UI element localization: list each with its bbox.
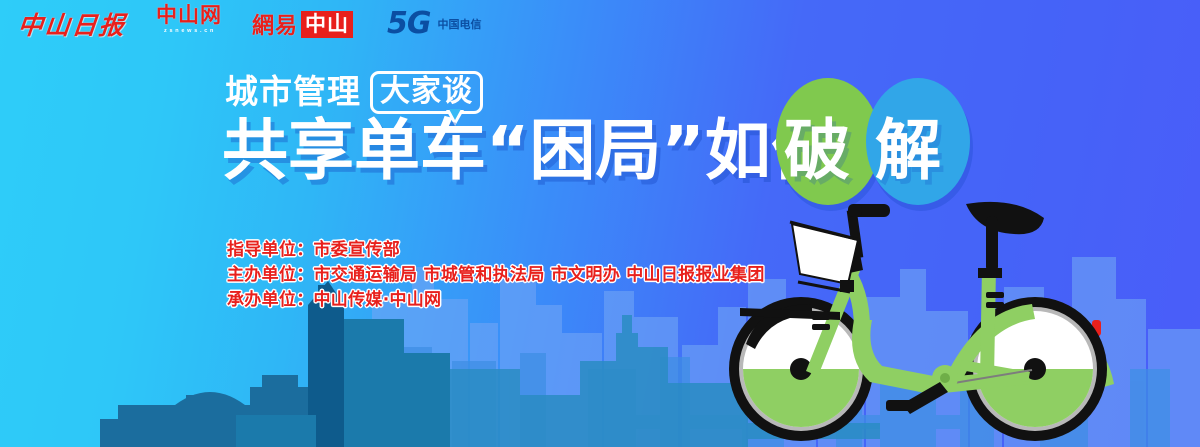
organiser-line-hosts: 主办单位：市交通运输局 市城管和执法局 市文明办 中山日报报业集团 [227,263,765,288]
logo-5g-text: 5G [387,9,431,39]
page-title: 共享单车“困局”如何 [222,112,837,190]
media-logo-bar: 中山日报 中山网 z s n e w s . c n 網易 中山 5G 中国电信 [0,0,1200,48]
logo-zhongshan-net-domain: z s n e w s . c n [164,29,214,35]
logo-netease-zhongshan[interactable]: 網易 中山 [252,5,353,43]
kicker-line: 城市管理 大家谈 [225,72,483,112]
organiser-line-operators: 承办单位：中山传媒·中山网 [227,288,765,313]
shared-bicycle-illustration [700,196,1200,447]
front-wheel [729,297,873,441]
kicker-text: 城市管理 [225,74,361,110]
saddle [966,202,1044,278]
logo-zhongshan-net-text: 中山网 [156,5,222,26]
emphasis-char-po: 破 [784,112,850,190]
organiser-line-guidance: 指导单位：市委宣传部 [227,238,765,263]
organiser-list: 指导单位：市委宣传部 主办单位：市交通运输局 市城管和执法局 市文明办 中山日报… [227,238,765,313]
speech-bubble-text: 大家谈 [380,74,473,109]
emphasis-char-jie: 解 [875,112,941,190]
logo-zhongshan-daily-text: 中山日报 [16,6,128,42]
logo-china-telecom-5g[interactable]: 5G 中国电信 [387,5,482,43]
speech-bubble: 大家谈 [370,71,483,114]
logo-netease-city-box: 中山 [301,11,353,38]
logo-zhongshan-net[interactable]: 中山网 z s n e w s . c n [156,5,222,43]
logo-china-telecom-text: 中国电信 [438,16,482,32]
event-banner: 中山日报 中山网 z s n e w s . c n 網易 中山 5G 中国电信… [0,0,1200,447]
logo-netease-text: 網易 [252,8,298,40]
logo-zhongshan-daily[interactable]: 中山日报 [18,5,126,43]
